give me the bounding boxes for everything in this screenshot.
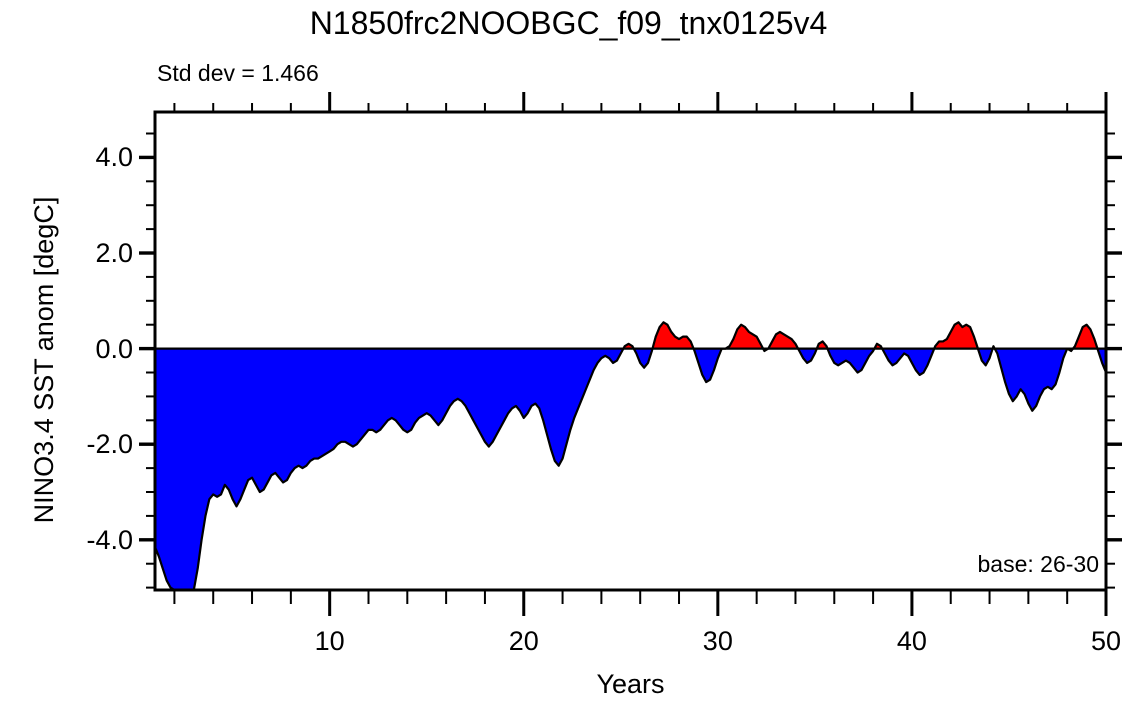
- x-axis-label: Years: [155, 668, 1106, 700]
- positive-anomaly-area: [934, 322, 978, 348]
- negative-anomaly-area: [694, 349, 722, 382]
- chart-page: N1850frc2NOOBGC_f09_tnx0125v4 Std dev = …: [0, 0, 1137, 714]
- plot-data-area: [155, 322, 1106, 590]
- negative-anomaly-area: [155, 349, 623, 590]
- base-period-annotation: base: 26-30: [978, 551, 1099, 577]
- y-tick-label: -4.0: [23, 525, 133, 555]
- x-tick-label: 30: [673, 626, 763, 656]
- nino34-anomaly-plot: [0, 0, 1137, 714]
- x-tick-label: 40: [867, 626, 957, 656]
- y-tick-label: -2.0: [23, 429, 133, 459]
- x-tick-label: 20: [479, 626, 569, 656]
- y-tick-label: 2.0: [23, 238, 133, 268]
- y-tick-label: 4.0: [23, 142, 133, 172]
- x-tick-label: 50: [1061, 626, 1137, 656]
- y-tick-label: 0.0: [23, 334, 133, 364]
- x-tick-label: 10: [285, 626, 375, 656]
